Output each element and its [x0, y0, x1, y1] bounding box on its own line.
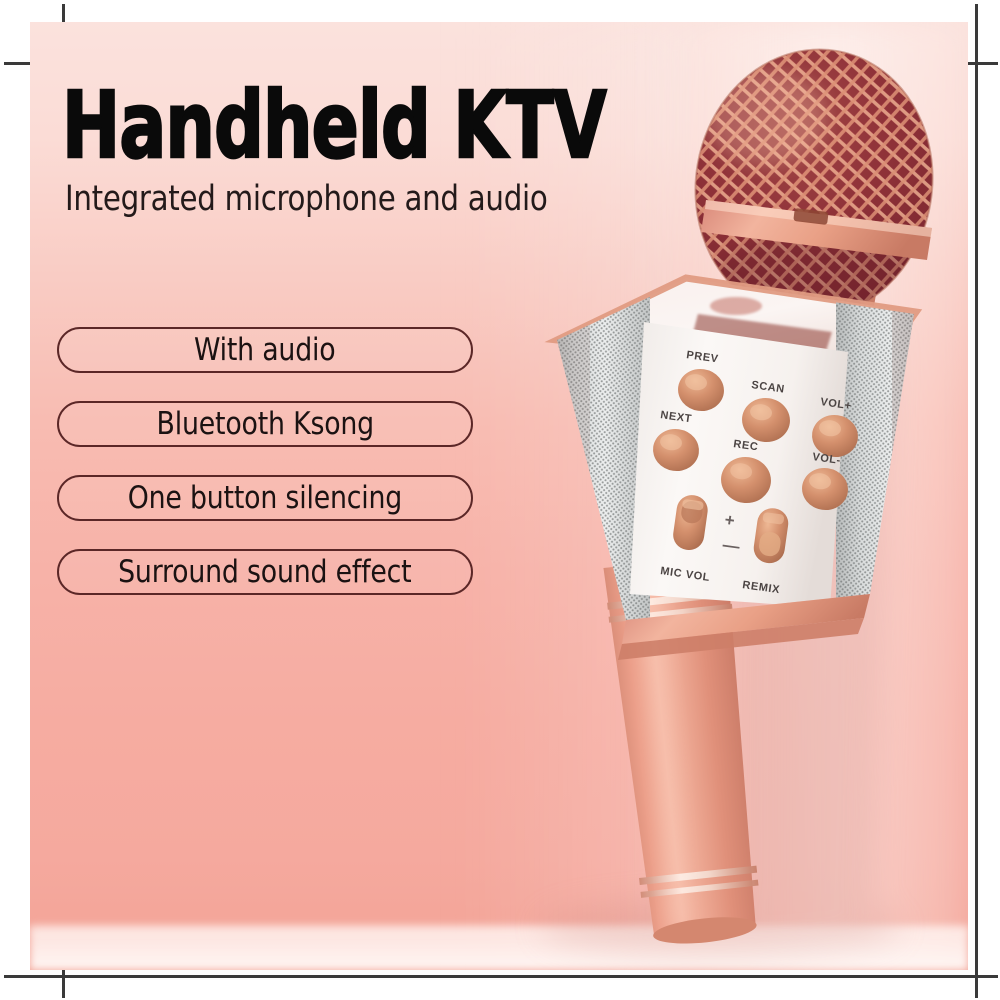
feature-pill-label: One button silencing — [128, 480, 402, 516]
feature-list: With audio Bluetooth Ksong One button si… — [57, 327, 473, 623]
feature-pill-label: Surround sound effect — [118, 554, 411, 590]
backdrop-floor — [30, 927, 968, 970]
frame-rule-bottom — [62, 975, 975, 978]
feature-pill-surround-sound-effect[interactable]: Surround sound effect — [57, 549, 473, 595]
feature-pill-bluetooth-ksong[interactable]: Bluetooth Ksong — [57, 401, 473, 447]
feature-pill-with-audio[interactable]: With audio — [57, 327, 473, 373]
crop-mark-bottom-left-horizontal — [4, 975, 66, 978]
feature-pill-label: Bluetooth Ksong — [156, 406, 373, 442]
product-photo: PREV SCAN VOL+ — [30, 22, 968, 970]
product-banner: PREV SCAN VOL+ — [0, 0, 1000, 1000]
page-title: Handheld KTV — [62, 80, 606, 172]
crop-mark-top-right-vertical — [975, 4, 978, 66]
page-subtitle: Integrated microphone and audio — [65, 179, 548, 219]
frame-rule-right — [975, 62, 978, 975]
feature-pill-one-button-silencing[interactable]: One button silencing — [57, 475, 473, 521]
feature-pill-label: With audio — [194, 332, 336, 368]
backdrop-highlight-band — [630, 22, 968, 970]
